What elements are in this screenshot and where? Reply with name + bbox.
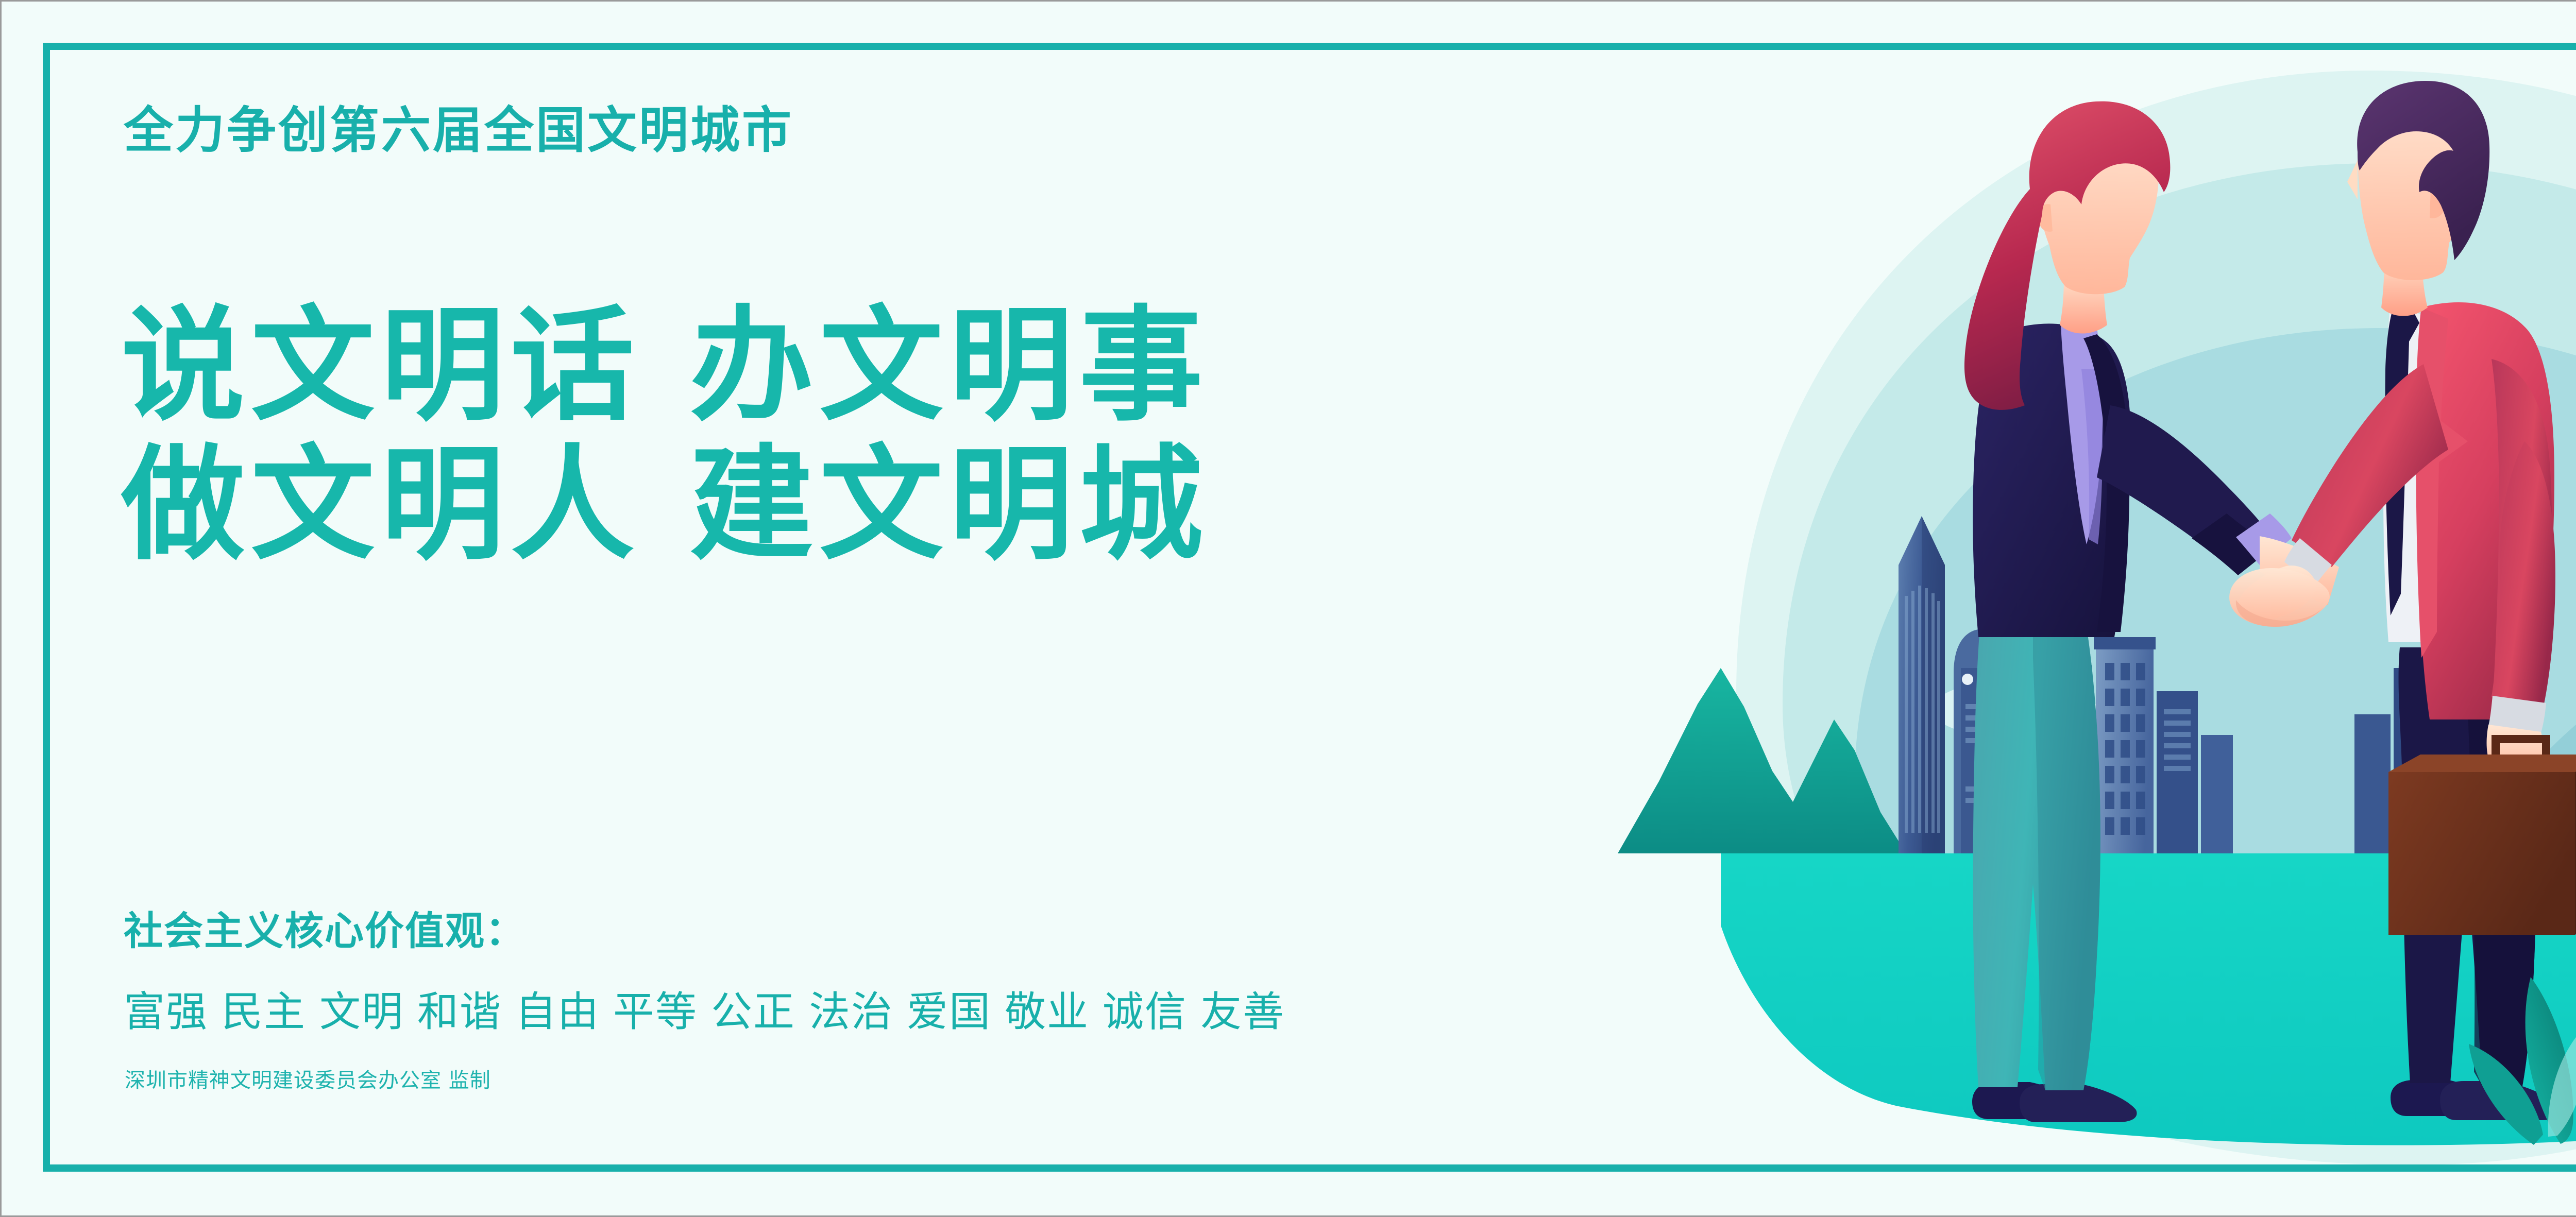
core-value-item: 爱国 [907,988,991,1036]
headline-line-1: 说文明话 办文明事 [121,304,1209,427]
core-value-item: 法治 [809,988,893,1036]
core-value-item: 公正 [711,988,795,1036]
issuer-credit: 深圳市精神文明建设委员会办公室 监制 [125,1070,491,1091]
core-value-item: 自由 [515,988,600,1036]
core-value-item: 文明 [319,988,404,1036]
poster-canvas: 全力争创第六届全国文明城市 说文明话 办文明事 做文明人 建文明城 社会主义核心… [0,0,2576,1217]
core-value-item: 敬业 [1005,988,1089,1036]
briefcase-lid [2388,755,2576,772]
headline-line-2: 做文明人 建文明城 [121,443,1209,567]
core-value-item: 平等 [613,988,698,1036]
core-value-item: 诚信 [1103,988,1187,1036]
text-column: 全力争创第六届全国文明城市 说文明话 办文明事 做文明人 建文明城 社会主义核心… [124,0,1618,1217]
tower-block-e [2201,735,2233,853]
core-values-title: 社会主义核心价值观： [124,912,526,951]
tower-block-f [2354,714,2391,853]
illustration-svg [1566,50,2576,1165]
core-values-list: 富强民主文明和谐自由平等公正法治爱国敬业诚信友善 [124,991,1298,1033]
illustration-artwork [1566,50,2576,1165]
core-value-item: 富强 [124,988,208,1036]
tower-block-d [2157,691,2198,853]
core-value-item: 友善 [1200,988,1285,1036]
core-value-item: 和谐 [417,988,502,1036]
eyebrow-slogan: 全力争创第六届全国文明城市 [124,106,793,155]
briefcase-body [2388,772,2575,935]
core-value-item: 民主 [222,988,306,1036]
